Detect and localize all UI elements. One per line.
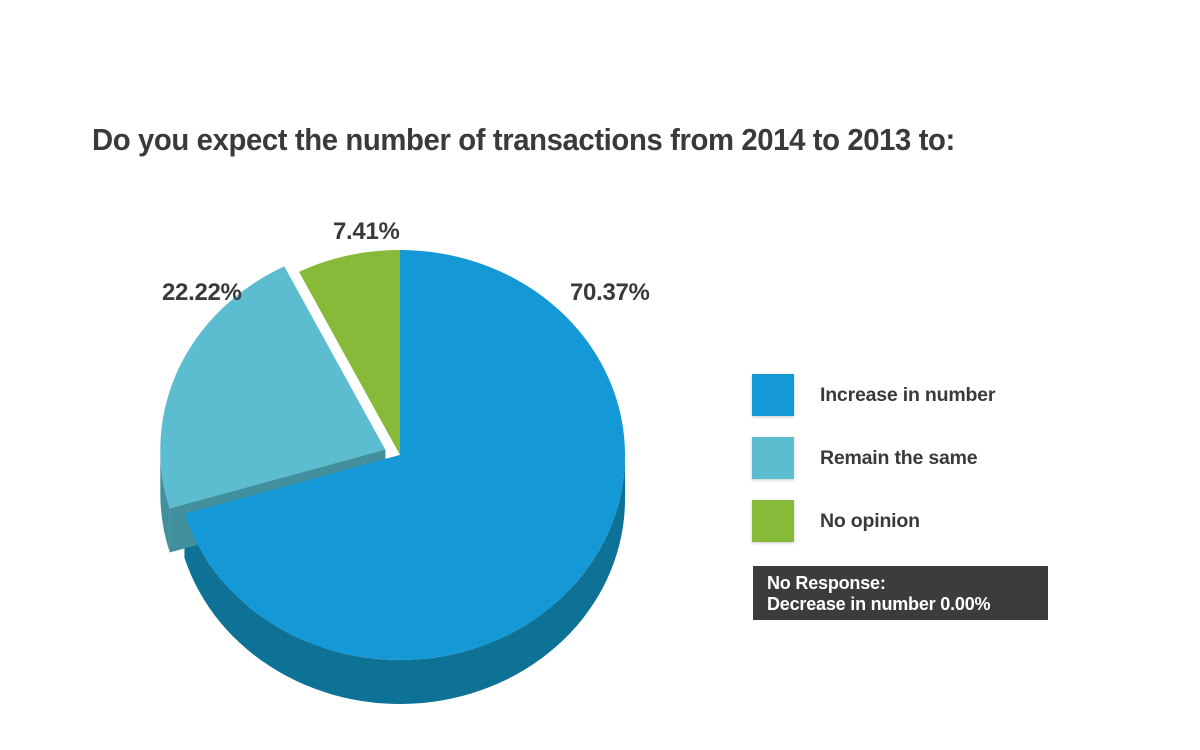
- page-title: Do you expect the number of transactions…: [92, 124, 1071, 158]
- legend-item-increase[interactable]: Increase in number: [752, 374, 1052, 416]
- legend-label-increase: Increase in number: [820, 384, 995, 407]
- legend-item-no-opinion[interactable]: No opinion: [752, 500, 1052, 542]
- legend-swatch-increase: [752, 374, 794, 416]
- slice-value-no-opinion: 7.41%: [333, 218, 400, 246]
- no-response-callout: No Response: Decrease in number 0.00%: [753, 566, 1048, 620]
- no-response-heading: No Response:: [767, 573, 1034, 594]
- chart-legend: Increase in number Remain the same No op…: [752, 374, 1052, 542]
- slice-value-increase: 70.37%: [570, 279, 650, 307]
- legend-swatch-remain: [752, 437, 794, 479]
- pie-chart-figure: Do you expect the number of transactions…: [0, 0, 1200, 750]
- no-response-detail: Decrease in number 0.00%: [767, 594, 1034, 615]
- legend-item-remain[interactable]: Remain the same: [752, 437, 1052, 479]
- legend-label-remain: Remain the same: [820, 447, 977, 470]
- legend-label-no-opinion: No opinion: [820, 510, 920, 533]
- legend-swatch-no-opinion: [752, 500, 794, 542]
- slice-value-remain: 22.22%: [162, 279, 242, 307]
